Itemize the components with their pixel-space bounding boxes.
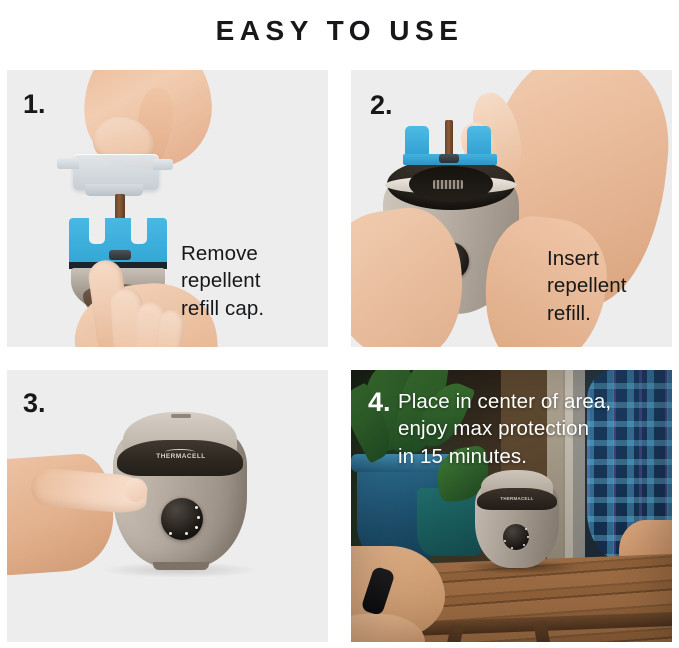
header: EASY TO USE <box>0 0 679 62</box>
step-number-3: 3. <box>23 390 46 417</box>
refill-cartridge <box>403 126 497 166</box>
step-caption-2: Insert repellent refill. <box>547 245 627 327</box>
step-1-illustration <box>7 70 328 347</box>
step-panel-4: THERMACELL 4. Place in center of area, e… <box>351 370 672 642</box>
step-number-2: 2. <box>370 92 393 119</box>
device-foot <box>153 562 209 570</box>
device-heater-grill <box>433 180 463 189</box>
step-number-4: 4. <box>368 389 391 416</box>
refill-slot-right <box>131 218 147 244</box>
refill-nut <box>109 250 131 260</box>
step-panel-2: 2. Insert repellent refill. <box>351 70 672 347</box>
step-panel-3: THERMACELL 3. Press power button to turn… <box>7 370 328 642</box>
step-panel-1: 1. Remove repellent refill cap. <box>7 70 328 347</box>
refill-cartridge <box>69 218 167 264</box>
easy-to-use-infographic: EASY TO USE <box>0 0 679 648</box>
device-top-slot <box>171 414 191 418</box>
thermacell-logo: THERMACELL <box>499 494 535 502</box>
thermacell-logo: THERMACELL <box>155 450 207 462</box>
steps-grid: 1. Remove repellent refill cap. <box>7 70 672 642</box>
step-caption-4: Place in center of area, enjoy max prote… <box>398 388 611 470</box>
power-button[interactable] <box>161 498 203 540</box>
step-caption-1: Remove repellent refill cap. <box>181 240 264 322</box>
page-title: EASY TO USE <box>216 17 464 45</box>
step-number-1: 1. <box>23 91 46 118</box>
device: THERMACELL <box>475 470 559 568</box>
refill-nut <box>439 154 459 163</box>
step-3-illustration: THERMACELL <box>7 370 328 642</box>
refill-cap-lip <box>85 184 143 196</box>
refill-slot-left <box>89 218 105 244</box>
fingertip <box>125 478 147 502</box>
